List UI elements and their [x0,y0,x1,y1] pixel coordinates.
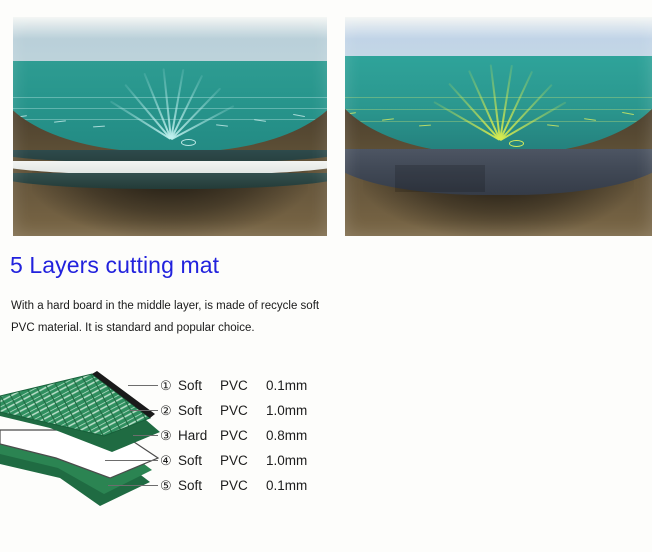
layer-number: ② [160,403,178,419]
five-layer-cutting-mat-photo [13,17,327,236]
layer-thickness: 1.0mm [266,453,307,468]
five-layer-description: With a hard board in the middle layer, i… [11,295,321,339]
layer-type: PVC [220,478,266,493]
three-layer-cutting-mat-photo [345,17,652,236]
layer-thickness: 0.1mm [266,378,307,393]
layer-material: Soft [178,453,220,468]
legend-row: ① Soft PVC 0.1mm [160,373,307,398]
layer-thickness: 0.1mm [266,478,307,493]
product-comparison-page: 5 Layers cutting mat With a hard board i… [0,0,652,552]
legend-row: ④ Soft PVC 1.0mm [160,448,307,473]
layer-material: Soft [178,378,220,393]
layer-material: Soft [178,478,220,493]
layer-number: ⑤ [160,478,178,494]
column-five-layer: 5 Layers cutting mat With a hard board i… [0,0,326,552]
layer-type: PVC [220,453,266,468]
layer-number: ③ [160,428,178,444]
layer-thickness: 1.0mm [266,403,307,418]
layer-type: PVC [220,403,266,418]
layer-1-mesh-shape [0,374,150,436]
layer-number: ① [160,378,178,394]
layer-thickness: 0.8mm [266,428,307,443]
photo-vignette [13,17,327,236]
layer-material: Hard [178,428,220,443]
photo-vignette [345,17,652,236]
layer-number: ④ [160,453,178,469]
layer-type: PVC [220,428,266,443]
legend-row: ② Soft PVC 1.0mm [160,398,307,423]
five-layer-title: 5 Layers cutting mat [10,252,219,279]
column-three-layer: 3 Layers cutting mat Without a hard boar… [326,0,652,552]
five-layer-legend: ① Soft PVC 0.1mm ② Soft PVC 1.0mm ③ Hard… [160,373,307,498]
legend-row: ⑤ Soft PVC 0.1mm [160,473,307,498]
layer-material: Soft [178,403,220,418]
legend-row: ③ Hard PVC 0.8mm [160,423,307,448]
layer-type: PVC [220,378,266,393]
